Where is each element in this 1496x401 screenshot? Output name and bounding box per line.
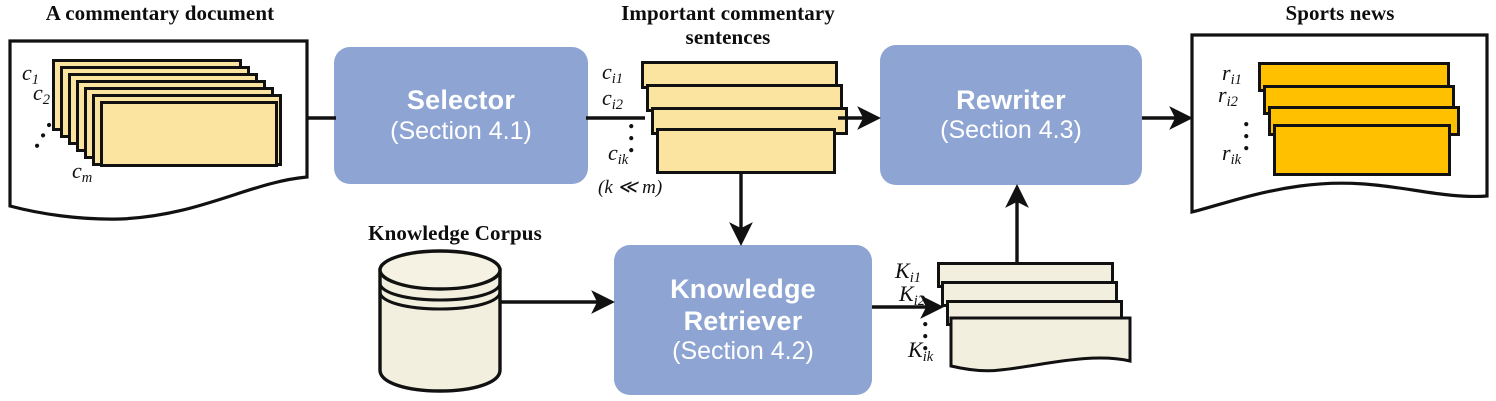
connector-layer: [0, 0, 1496, 401]
pipeline-diagram: A commentary document Important commenta…: [0, 0, 1496, 401]
